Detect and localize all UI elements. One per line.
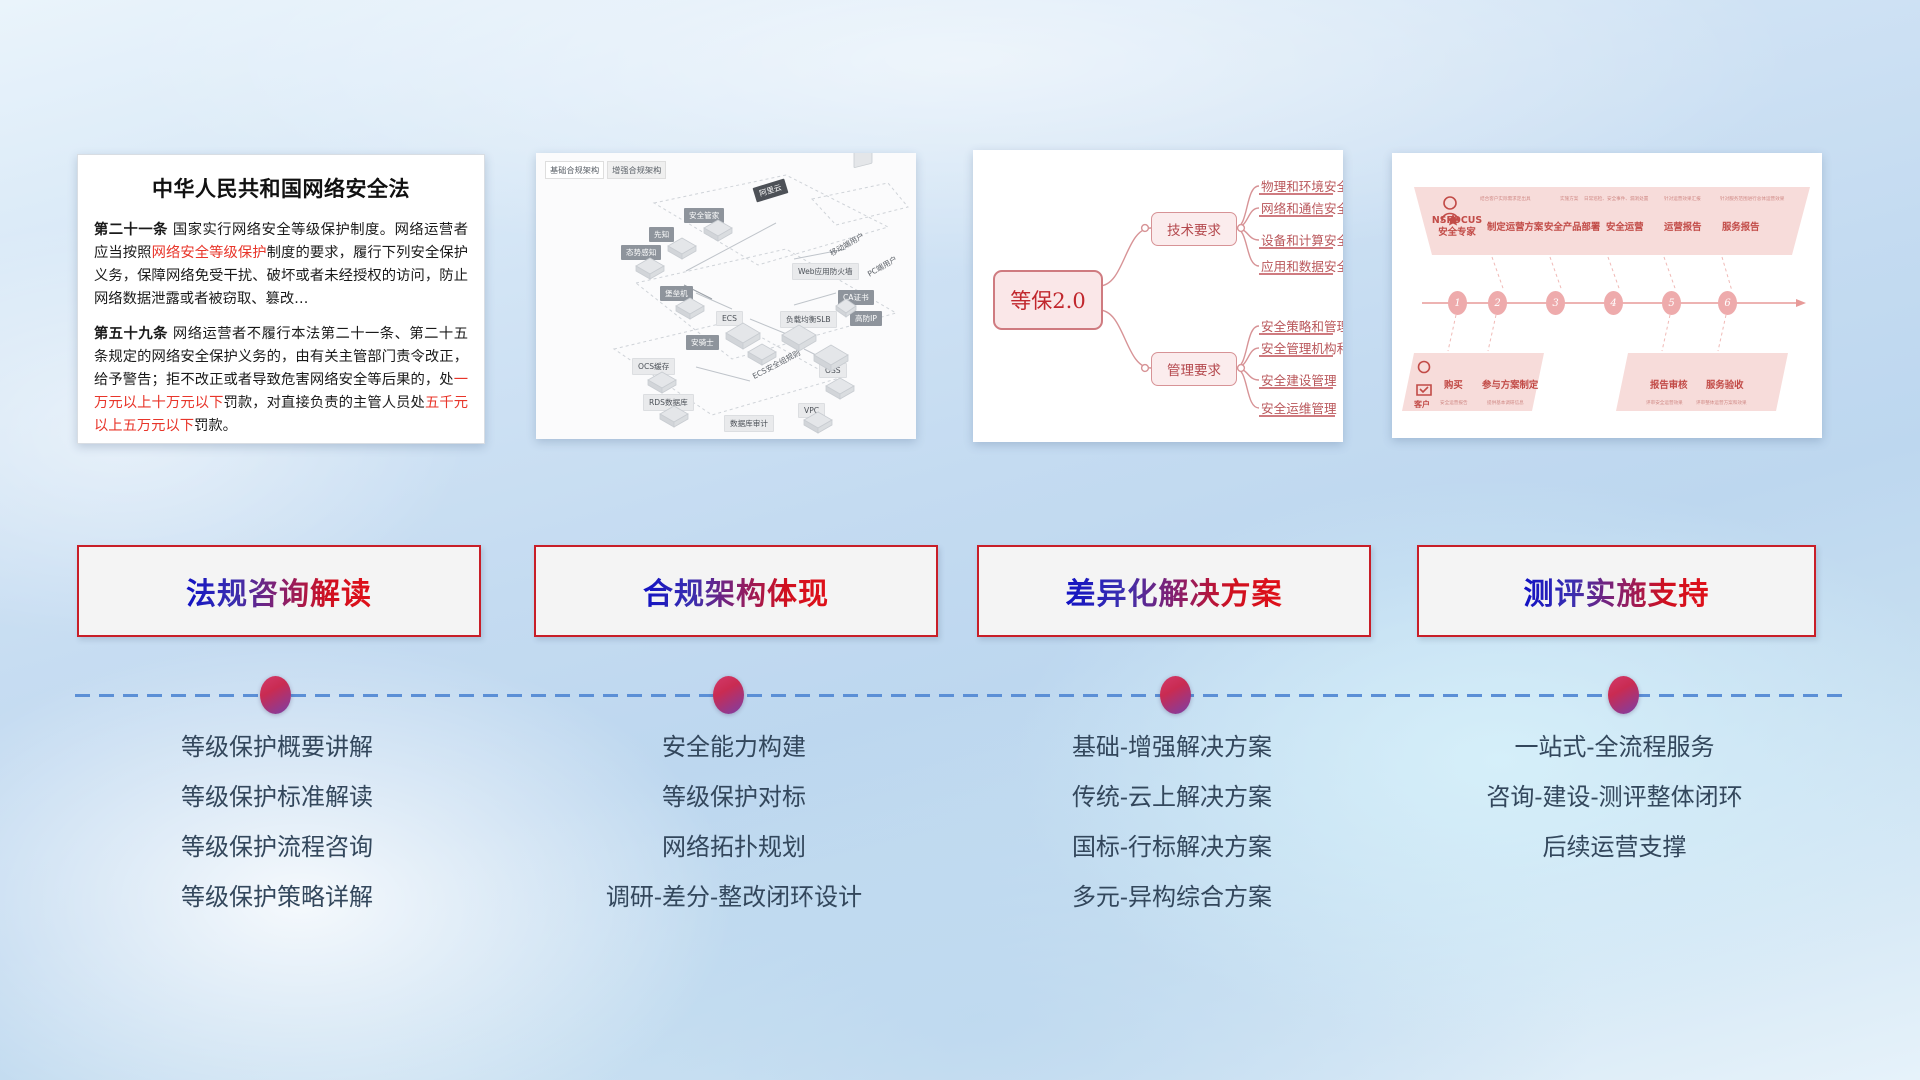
nsfocus-top-sub-4: 针对运营效果汇报: [1664, 196, 1701, 202]
list-item[interactable]: 等级保护概要讲解: [77, 735, 477, 759]
mindmap-branch-technical[interactable]: 技术要求: [1151, 212, 1237, 246]
list-column-1: 等级保护概要讲解 等级保护标准解读 等级保护流程咨询 等级保护策略详解: [77, 735, 477, 935]
architecture-diagram: 基础合规架构 增强合规架构: [536, 153, 916, 439]
law-article-59-text-b: 罚款，对直接负责的主管人员处: [224, 395, 425, 411]
nsfocus-bottom-main-1: 购买: [1444, 377, 1463, 391]
nsfocus-top-sub-3: 日常巡检、安全事件、漏洞处置: [1584, 196, 1648, 202]
heading-label-4: 测评实施支持: [1524, 569, 1710, 613]
nsfocus-step-number-1: 1: [1448, 291, 1467, 315]
list-item[interactable]: 等级保护策略详解: [77, 885, 477, 909]
nsfocus-step-number-4: 4: [1604, 291, 1623, 315]
nsfocus-bottom-main-4: 服务验收: [1706, 377, 1744, 391]
mindmap-leaf-mgmt-3[interactable]: 安全建设管理: [1261, 370, 1337, 392]
timeline-dot-3[interactable]: [1160, 676, 1191, 714]
list-item[interactable]: 咨询-建设-测评整体闭环: [1417, 785, 1812, 809]
list-item[interactable]: 等级保护标准解读: [77, 785, 477, 809]
nsfocus-top-main-4: 运营报告: [1664, 219, 1702, 233]
list-item[interactable]: 网络拓扑规划: [534, 835, 934, 859]
mindmap-leaf-tech-3[interactable]: 设备和计算安全: [1261, 230, 1343, 252]
nsfocus-bottom-sub-4: 评审整体运营方案和效果: [1696, 400, 1747, 406]
mindmap-branch-management[interactable]: 管理要求: [1151, 352, 1237, 386]
list-item[interactable]: 基础-增强解决方案: [977, 735, 1367, 759]
law-paragraph-21: 第二十一条 国家实行网络安全等级保护制度。网络运营者应当按照网络安全等级保护制度…: [94, 219, 468, 312]
heading-label-2: 合规架构体现: [643, 569, 829, 613]
nsfocus-step-number-2: 2: [1488, 291, 1507, 315]
illustration-cards-row: 中华人民共和国网络安全法 第二十一条 国家实行网络安全等级保护制度。网络运营者应…: [0, 148, 1920, 444]
law-article-59-text-c: 罚款。: [194, 418, 237, 434]
mindmap-leaf-tech-4[interactable]: 应用和数据安全: [1261, 256, 1343, 278]
nsfocus-customer-label: 客户: [1414, 399, 1430, 410]
mindmap-leaf-mgmt-4[interactable]: 安全运维管理: [1261, 398, 1337, 420]
law-article-21-highlight: 网络安全等级保护: [152, 245, 267, 261]
nsfocus-step-number-3: 3: [1546, 291, 1565, 315]
nsfocus-top-main-1: 制定运营方案: [1487, 219, 1543, 233]
nsfocus-bottom-sub-2: 提供基本调研信息: [1487, 400, 1524, 406]
list-item[interactable]: 等级保护对标: [534, 785, 934, 809]
timeline-dot-2[interactable]: [713, 676, 744, 714]
nsfocus-brand: NSFOCUS 安全专家: [1428, 215, 1486, 239]
mindmap-leaf-tech-1[interactable]: 物理和环境安全: [1261, 176, 1343, 198]
nsfocus-step-number-5: 5: [1662, 291, 1681, 315]
heading-label-1: 法规咨询解读: [186, 569, 372, 613]
list-column-2: 安全能力构建 等级保护对标 网络拓扑规划 调研-差分-整改闭环设计: [534, 735, 934, 935]
mindmap-leaf-mgmt-1[interactable]: 安全策略和管理制度: [1261, 316, 1343, 338]
nsfocus-top-sub-5: 针对服务范围进行总体运营效果: [1720, 196, 1784, 202]
timeline-dot-1[interactable]: [260, 676, 291, 714]
heading-box-1[interactable]: 法规咨询解读: [77, 545, 481, 637]
nsfocus-bottom-sub-1: 安全运营报告: [1440, 400, 1468, 406]
list-item[interactable]: 一站式-全流程服务: [1417, 735, 1812, 759]
nsfocus-bottom-main-2: 参与方案制定: [1482, 377, 1538, 391]
list-column-3: 基础-增强解决方案 传统-云上解决方案 国标-行标解决方案 多元-异构综合方案: [977, 735, 1367, 935]
card-nsfocus-flow[interactable]: NSFOCUS 安全专家 结合客户实际需求定出具 制定运营方案 实施方案 安全产…: [1392, 153, 1822, 438]
list-item[interactable]: 国标-行标解决方案: [977, 835, 1367, 859]
list-item[interactable]: 多元-异构综合方案: [977, 885, 1367, 909]
nsfocus-top-sub-1: 结合客户实际需求定出具: [1480, 196, 1531, 202]
card-cloud-architecture[interactable]: 基础合规架构 增强合规架构: [536, 153, 916, 439]
mindmap-leaf-mgmt-2[interactable]: 安全管理机构和人员: [1261, 338, 1343, 360]
list-item[interactable]: 安全能力构建: [534, 735, 934, 759]
list-item[interactable]: 传统-云上解决方案: [977, 785, 1367, 809]
nsfocus-brand-line1: NSFOCUS: [1432, 215, 1482, 226]
law-paragraph-59: 第五十九条 网络运营者不履行本法第二十一条、第二十五条规定的网络安全保护义务的，…: [94, 323, 468, 439]
heading-box-4[interactable]: 测评实施支持: [1417, 545, 1816, 637]
nsfocus-bottom-main-3: 报告审核: [1650, 377, 1688, 391]
heading-label-3: 差异化解决方案: [1066, 569, 1283, 613]
mindmap: 等保2.0 技术要求 物理和环境安全 网络和通信安全 设备和计算安全 应用和数据…: [973, 150, 1343, 442]
list-item[interactable]: 调研-差分-整改闭环设计: [534, 885, 934, 909]
law-article-59-label: 第五十九条: [94, 326, 168, 342]
detail-lists-row: 等级保护概要讲解 等级保护标准解读 等级保护流程咨询 等级保护策略详解 安全能力…: [0, 735, 1920, 995]
law-title: 中华人民共和国网络安全法: [78, 173, 484, 203]
mindmap-leaf-tech-2[interactable]: 网络和通信安全: [1261, 198, 1343, 220]
nsfocus-bottom-sub-3: 评审安全运营效果: [1646, 400, 1683, 406]
nsfocus-step-number-6: 6: [1718, 291, 1737, 315]
list-item[interactable]: 后续运营支撑: [1417, 835, 1812, 859]
list-column-4: 一站式-全流程服务 咨询-建设-测评整体闭环 后续运营支撑: [1417, 735, 1812, 885]
timeline-dot-4[interactable]: [1608, 676, 1639, 714]
nsfocus-top-main-3: 安全运营: [1606, 219, 1644, 233]
nsfocus-brand-line2: 安全专家: [1438, 227, 1476, 238]
law-article-21-label: 第二十一条: [94, 222, 168, 238]
nsfocus-top-sub-2: 实施方案: [1560, 196, 1578, 202]
card-cybersecurity-law[interactable]: 中华人民共和国网络安全法 第二十一条 国家实行网络安全等级保护制度。网络运营者应…: [77, 154, 485, 444]
headline-row: 法规咨询解读 合规架构体现 差异化解决方案 测评实施支持: [0, 545, 1920, 635]
heading-box-2[interactable]: 合规架构体现: [534, 545, 938, 637]
nsfocus-flow-diagram: NSFOCUS 安全专家 结合客户实际需求定出具 制定运营方案 实施方案 安全产…: [1392, 153, 1822, 438]
architecture-node-shapes: [536, 153, 916, 439]
nsfocus-top-main-5: 服务报告: [1722, 219, 1760, 233]
heading-box-3[interactable]: 差异化解决方案: [977, 545, 1371, 637]
list-item[interactable]: 等级保护流程咨询: [77, 835, 477, 859]
mindmap-root-node[interactable]: 等保2.0: [993, 270, 1103, 330]
nsfocus-top-main-2: 安全产品部署: [1544, 219, 1600, 233]
timeline-dashed-line: [75, 694, 1850, 697]
card-mindmap-dengbao[interactable]: 等保2.0 技术要求 物理和环境安全 网络和通信安全 设备和计算安全 应用和数据…: [973, 150, 1343, 442]
timeline-axis: [75, 694, 1850, 698]
